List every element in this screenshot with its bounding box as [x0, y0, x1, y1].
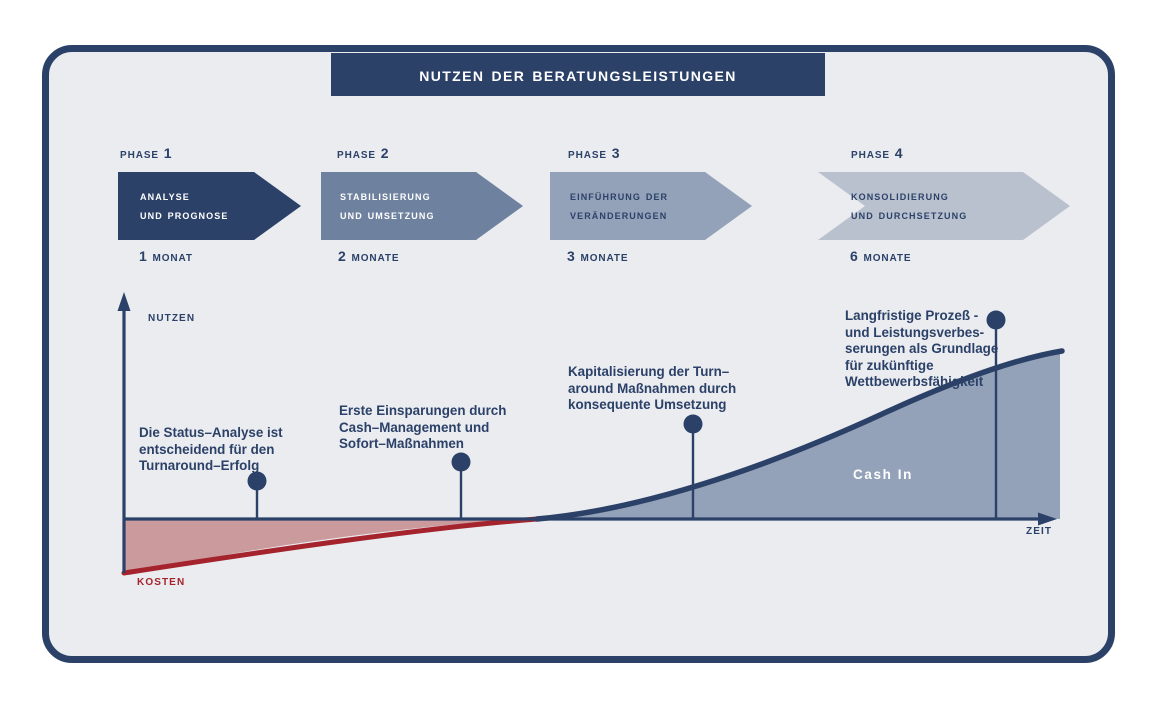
diagram-root: Nutzen der Beratungsleistungen Phase 1 P…	[0, 0, 1160, 713]
duration-label-3: 3 Monate	[567, 248, 628, 264]
phase-chevron-band: Analyseund Prognose Stabilisierungund Um…	[118, 172, 1070, 240]
chevron-text-1-line1: Analyse	[140, 188, 190, 203]
chevron-text-1: Analyseund Prognose	[140, 186, 228, 224]
phase-label-2: Phase 2	[337, 145, 389, 161]
cash-in-label: Cash In	[853, 467, 913, 482]
title-banner: Nutzen der Beratungsleistungen	[331, 53, 825, 96]
chevron-text-1-line2: und Prognose	[140, 207, 228, 222]
chevron-text-2-line1: Stabilisierung	[340, 188, 431, 203]
chevron-text-4-line2: und Durchsetzung	[851, 207, 967, 222]
callout-1: Die Status–Analyse ist entscheidend für …	[139, 425, 283, 475]
chevron-text-3-line2: Veränderungen	[570, 207, 667, 222]
callout-3: Kapitalisierung der Turn– around Maßnahm…	[568, 364, 736, 414]
duration-label-4: 6 Monate	[850, 248, 911, 264]
page-title: Nutzen der Beratungsleistungen	[419, 63, 737, 87]
duration-label-1: 1 Monat	[139, 248, 193, 264]
chevron-text-2: Stabilisierungund Umsetzung	[340, 186, 435, 224]
chevron-text-2-line2: und Umsetzung	[340, 207, 435, 222]
callout-2: Erste Einsparungen durch Cash–Management…	[339, 403, 506, 453]
chevron-text-4-line1: Konsolidierung	[851, 188, 949, 203]
chevron-text-4: Konsolidierungund Durchsetzung	[851, 186, 967, 224]
duration-label-2: 2 Monate	[338, 248, 399, 264]
cost-label: Kosten	[137, 572, 185, 588]
phase-label-4: Phase 4	[851, 145, 903, 161]
callout-4: Langfristige Prozeß - und Leistungsverbe…	[845, 308, 998, 391]
chevron-text-3-line1: Einführung der	[570, 188, 668, 203]
y-axis-label: Nutzen	[148, 308, 195, 324]
chevron-text-3: Einführung derVeränderungen	[570, 186, 668, 224]
phase-label-1: Phase 1	[120, 145, 172, 161]
x-axis-label: Zeit	[1026, 521, 1052, 537]
phase-label-3: Phase 3	[568, 145, 620, 161]
